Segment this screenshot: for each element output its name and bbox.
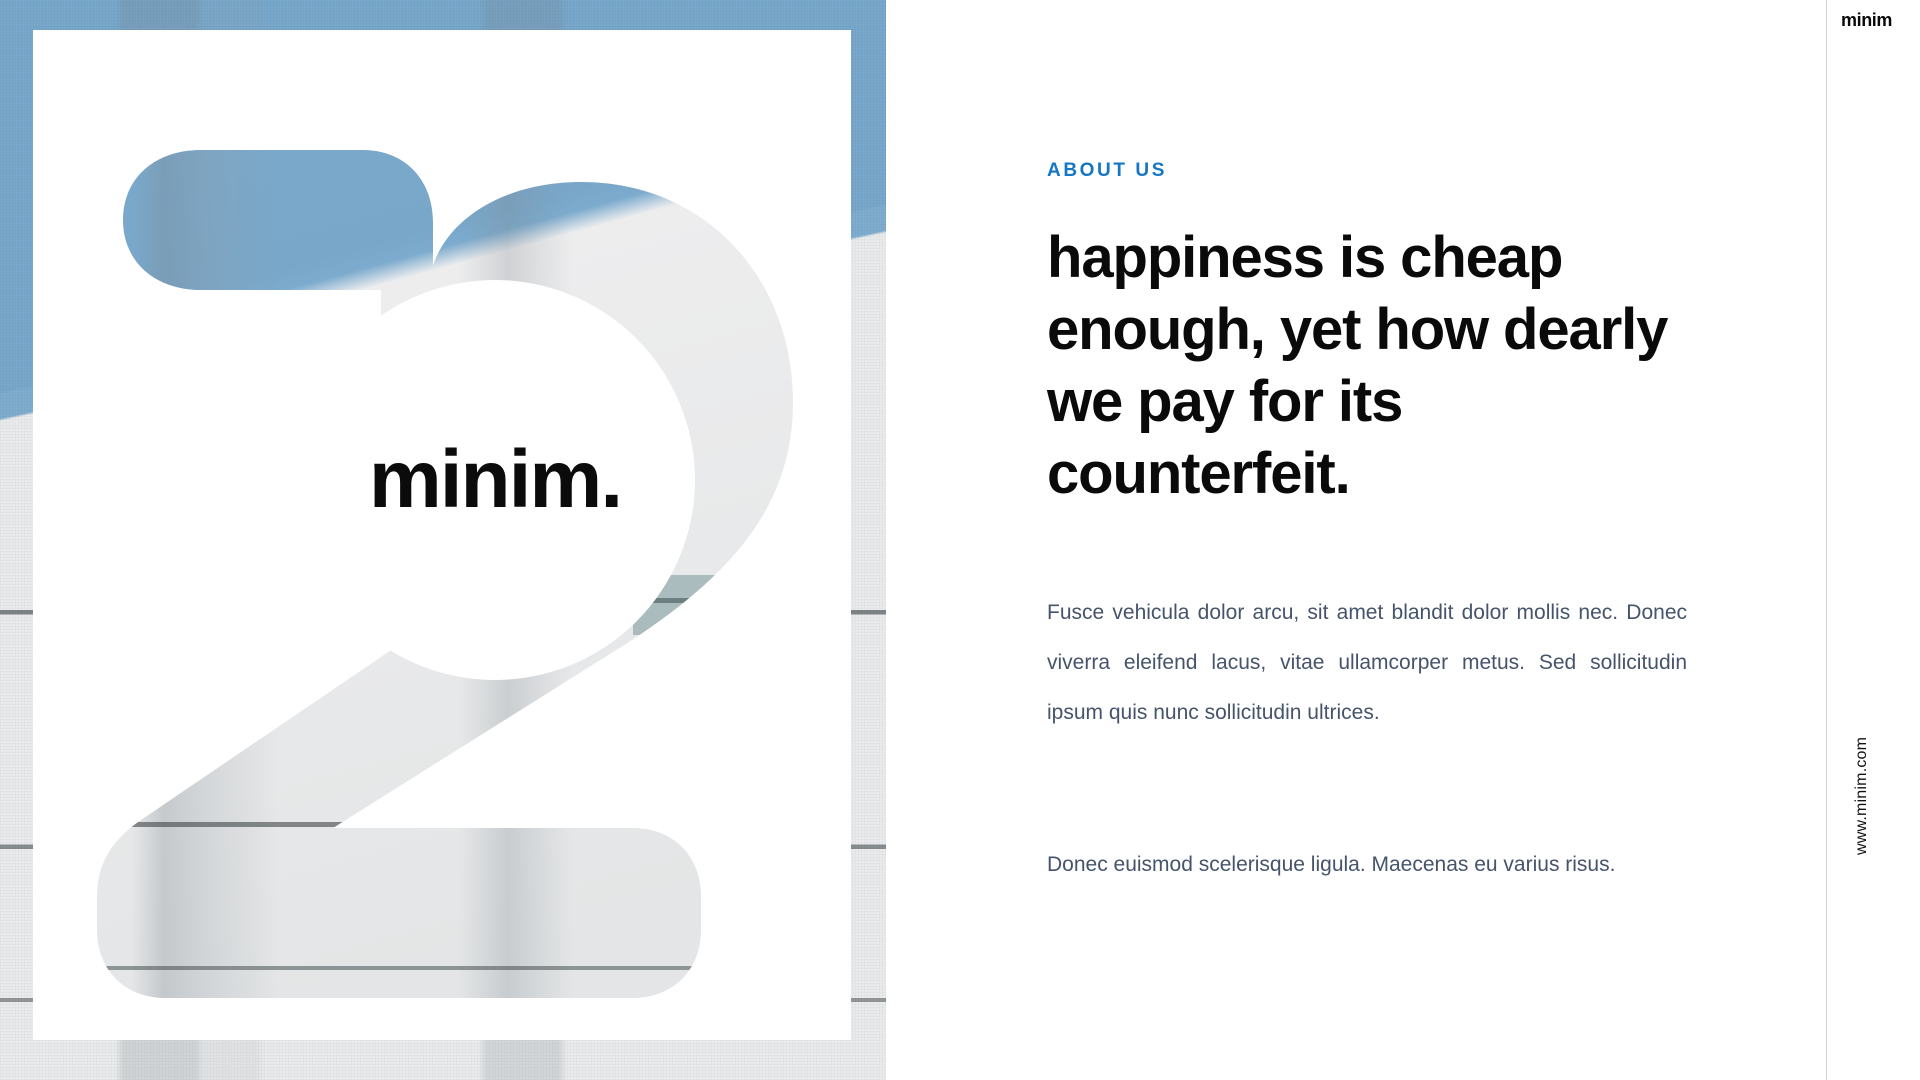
section-eyebrow: ABOUT US (1047, 160, 1167, 182)
page-title: happiness is cheap enough, yet how dearl… (1047, 222, 1687, 510)
rail-divider (1826, 0, 1827, 1080)
body-paragraph-1: Fusce vehicula dolor arcu, sit amet blan… (1047, 588, 1687, 738)
about-section: ABOUT US happiness is cheap enough, yet … (1047, 0, 1687, 1080)
photo-panel: minim. (0, 0, 886, 1080)
site-url-vertical[interactable]: www.minim.com (1853, 737, 1871, 855)
slide-canvas: minim. ABOUT US happiness is cheap enoug… (0, 0, 1920, 1080)
logo-wordmark: minim. (295, 280, 695, 680)
brand-logo: minim (1841, 10, 1892, 31)
numeral-artwork: minim. (33, 30, 851, 1040)
body-paragraph-2: Donec euismod scelerisque ligula. Maecen… (1047, 840, 1687, 890)
